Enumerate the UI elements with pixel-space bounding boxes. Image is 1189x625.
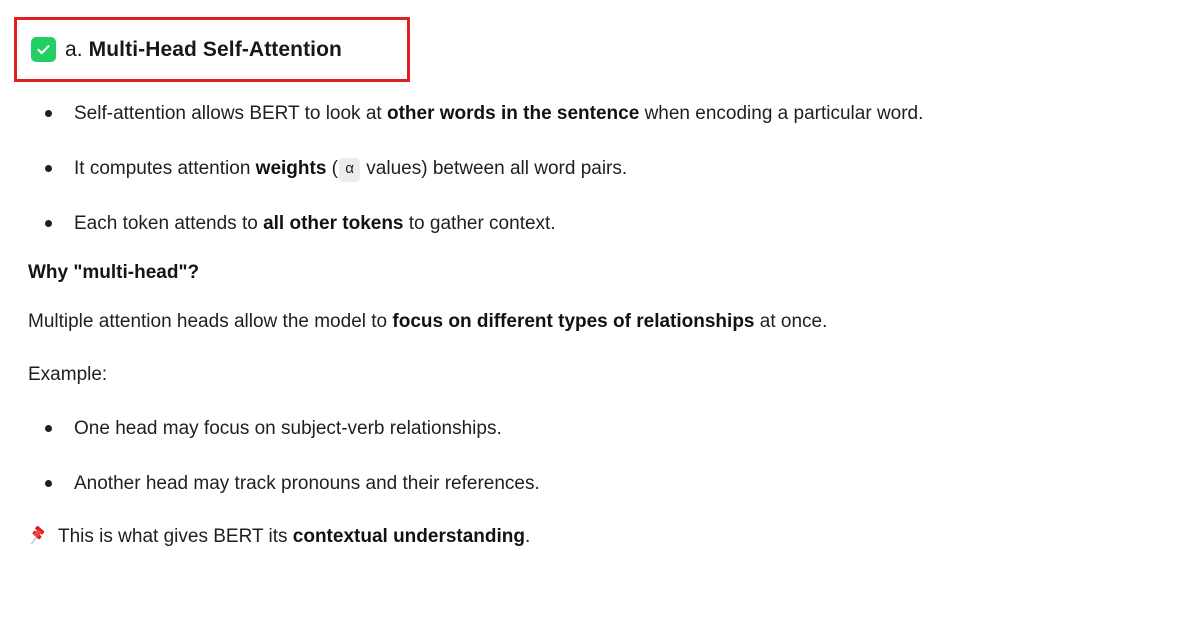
document-body: Self-attention allows BERT to look at ot…	[0, 86, 1189, 561]
list-item: Self-attention allows BERT to look at ot…	[0, 86, 1189, 141]
footnote-line: This is what gives BERT its contextual u…	[0, 511, 1189, 561]
list-item: One head may focus on subject-verb relat…	[0, 401, 1189, 456]
footnote-text: This is what gives BERT its contextual u…	[58, 527, 530, 546]
highlighted-heading-box: a. Multi-Head Self-Attention	[14, 17, 410, 82]
heading-prefix: a.	[65, 38, 89, 61]
why-multi-head-subheading: Why "multi-head"?	[0, 251, 1189, 295]
green-check-icon	[31, 37, 56, 62]
page-title: a. Multi-Head Self-Attention	[65, 39, 342, 60]
list-item: Another head may track pronouns and thei…	[0, 456, 1189, 511]
document-page: a. Multi-Head Self-Attention Self-attent…	[0, 0, 1189, 625]
heading-title: Multi-Head Self-Attention	[89, 38, 342, 61]
example-label: Example:	[0, 348, 1189, 401]
list-item: It computes attention weights (α values)…	[0, 141, 1189, 196]
list-item: Each token attends to all other tokens t…	[0, 196, 1189, 251]
pushpin-icon	[28, 525, 50, 547]
multi-head-paragraph: Multiple attention heads allow the model…	[0, 295, 1189, 348]
example-bullet-list: One head may focus on subject-verb relat…	[0, 401, 1189, 511]
self-attention-bullet-list: Self-attention allows BERT to look at ot…	[0, 86, 1189, 251]
